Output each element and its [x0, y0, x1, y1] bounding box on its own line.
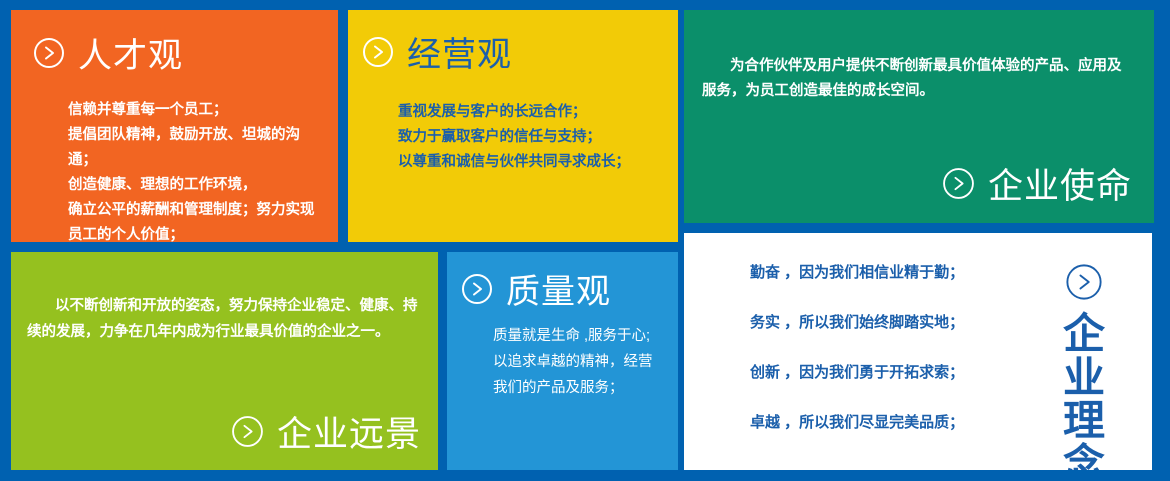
- panel-mission-heading: 企业使命: [942, 167, 1132, 205]
- panel-vision-heading: 企业远景: [231, 415, 421, 453]
- panel-vision-body: 以不断创新和开放的姿态，努力保持企业稳定、健康、持续的发展，力争在几年内成为行业…: [27, 294, 422, 346]
- panel-talent-view: 人才观 信赖并尊重每一个员工； 提倡团队精神，鼓励开放、坦城的沟通； 创造健康、…: [11, 10, 338, 242]
- panel-business-heading: 经营观: [362, 36, 512, 73]
- vertical-char: 企: [1063, 312, 1105, 356]
- panel-quality-title: 质量观: [506, 275, 611, 309]
- vertical-char: 业: [1063, 356, 1105, 400]
- chevron-right-circle-icon: [362, 36, 394, 73]
- list-item: 勤奋 ，因为我们相信业精于勤；: [750, 265, 1050, 280]
- panel-talent-body: 信赖并尊重每一个员工； 提倡团队精神，鼓励开放、坦城的沟通； 创造健康、理想的工…: [68, 98, 328, 242]
- list-item: 卓越 ，所以我们尽显完美品质；: [750, 415, 1050, 430]
- panel-quality-heading: 质量观: [461, 273, 611, 310]
- panel-values-heading: 企 业 理 念: [1054, 263, 1114, 470]
- panel-vision-title: 企业远景: [277, 417, 421, 452]
- list-item: 务实 ，所以我们始终脚踏实地；: [750, 315, 1050, 330]
- panel-business-title: 经营观: [407, 38, 512, 72]
- list-item: 创新 ，因为我们勇于开拓求索；: [750, 365, 1050, 380]
- panel-quality-view: 质量观 质量就是生命 ,服务于心; 以追求卓越的精神，经营 我们的产品及服务；: [447, 252, 678, 470]
- panel-quality-body: 质量就是生命 ,服务于心; 以追求卓越的精神，经营 我们的产品及服务；: [493, 324, 670, 401]
- panel-talent-title: 人才观: [78, 39, 183, 73]
- vertical-char: 理: [1063, 399, 1105, 443]
- panel-vision-view: 以不断创新和开放的姿态，努力保持企业稳定、健康、持续的发展，力争在几年内成为行业…: [11, 252, 438, 470]
- vertical-char: 念: [1063, 443, 1105, 470]
- panel-business-view: 经营观 重视发展与客户的长远合作； 致力于赢取客户的信任与支持； 以尊重和诚信与…: [348, 10, 678, 242]
- values-list: 勤奋 ，因为我们相信业精于勤； 务实 ，所以我们始终脚踏实地； 创新 ，因为我们…: [750, 265, 1050, 430]
- panel-business-body: 重视发展与客户的长远合作； 致力于赢取客户的信任与支持； 以尊重和诚信与伙伴共同…: [398, 100, 668, 175]
- panel-talent-heading: 人才观: [33, 37, 183, 74]
- panel-mission-view: 为合作伙伴及用户提供不断创新最具价值体验的产品、应用及服务，为员工创造最佳的成长…: [684, 10, 1154, 223]
- values-infographic-board: 人才观 信赖并尊重每一个员工； 提倡团队精神，鼓励开放、坦城的沟通； 创造健康、…: [0, 0, 1170, 481]
- chevron-right-circle-icon: [461, 273, 493, 310]
- chevron-right-circle-icon: [231, 415, 264, 453]
- panel-values-view: 勤奋 ，因为我们相信业精于勤； 务实 ，所以我们始终脚踏实地； 创新 ，因为我们…: [684, 233, 1152, 470]
- chevron-right-circle-icon: [942, 167, 975, 205]
- chevron-right-circle-icon: [1065, 263, 1103, 306]
- panel-values-vertical-title: 企 业 理 念: [1063, 312, 1105, 470]
- panel-mission-body: 为合作伙伴及用户提供不断创新最具价值体验的产品、应用及服务，为员工创造最佳的成长…: [702, 54, 1134, 105]
- chevron-right-circle-icon: [33, 37, 65, 74]
- panel-mission-title: 企业使命: [988, 169, 1132, 204]
